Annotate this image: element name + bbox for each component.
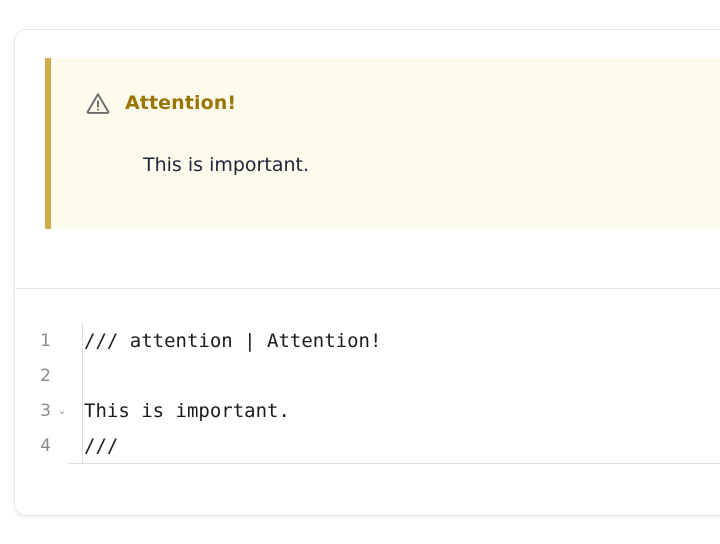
code-lines[interactable]: 1 /// attention | Attention! 2 3 ⌄ This … [15, 323, 720, 463]
line-number: 1 [15, 331, 51, 351]
code-text[interactable]: /// [84, 435, 118, 457]
line-number: 2 [15, 366, 51, 386]
code-line-row[interactable]: 4 /// [15, 428, 720, 463]
line-number: 3 [15, 401, 51, 421]
code-line-row[interactable]: 3 ⌄ This is important. [15, 393, 720, 428]
screenshot-root: Attention! This is important. 1 /// atte… [0, 0, 720, 544]
fold-chevron-icon[interactable]: ⌄ [51, 405, 73, 416]
example-card: Attention! This is important. 1 /// atte… [14, 29, 720, 516]
admonition-header: Attention! [51, 90, 236, 116]
code-line-row[interactable]: 2 [15, 358, 720, 393]
code-bottom-divider [68, 463, 720, 464]
warning-triangle-icon [83, 90, 113, 116]
rendered-preview-pane: Attention! This is important. [15, 30, 720, 288]
admonition-body: This is important. [143, 154, 309, 176]
code-line-row[interactable]: 1 /// attention | Attention! [15, 323, 720, 358]
admonition-title: Attention! [125, 92, 236, 114]
line-number: 4 [15, 436, 51, 456]
attention-admonition: Attention! This is important. [45, 58, 720, 229]
source-code-pane[interactable]: 1 /// attention | Attention! 2 3 ⌄ This … [15, 289, 720, 516]
code-text[interactable]: This is important. [84, 400, 290, 422]
code-text[interactable]: /// attention | Attention! [84, 330, 381, 352]
